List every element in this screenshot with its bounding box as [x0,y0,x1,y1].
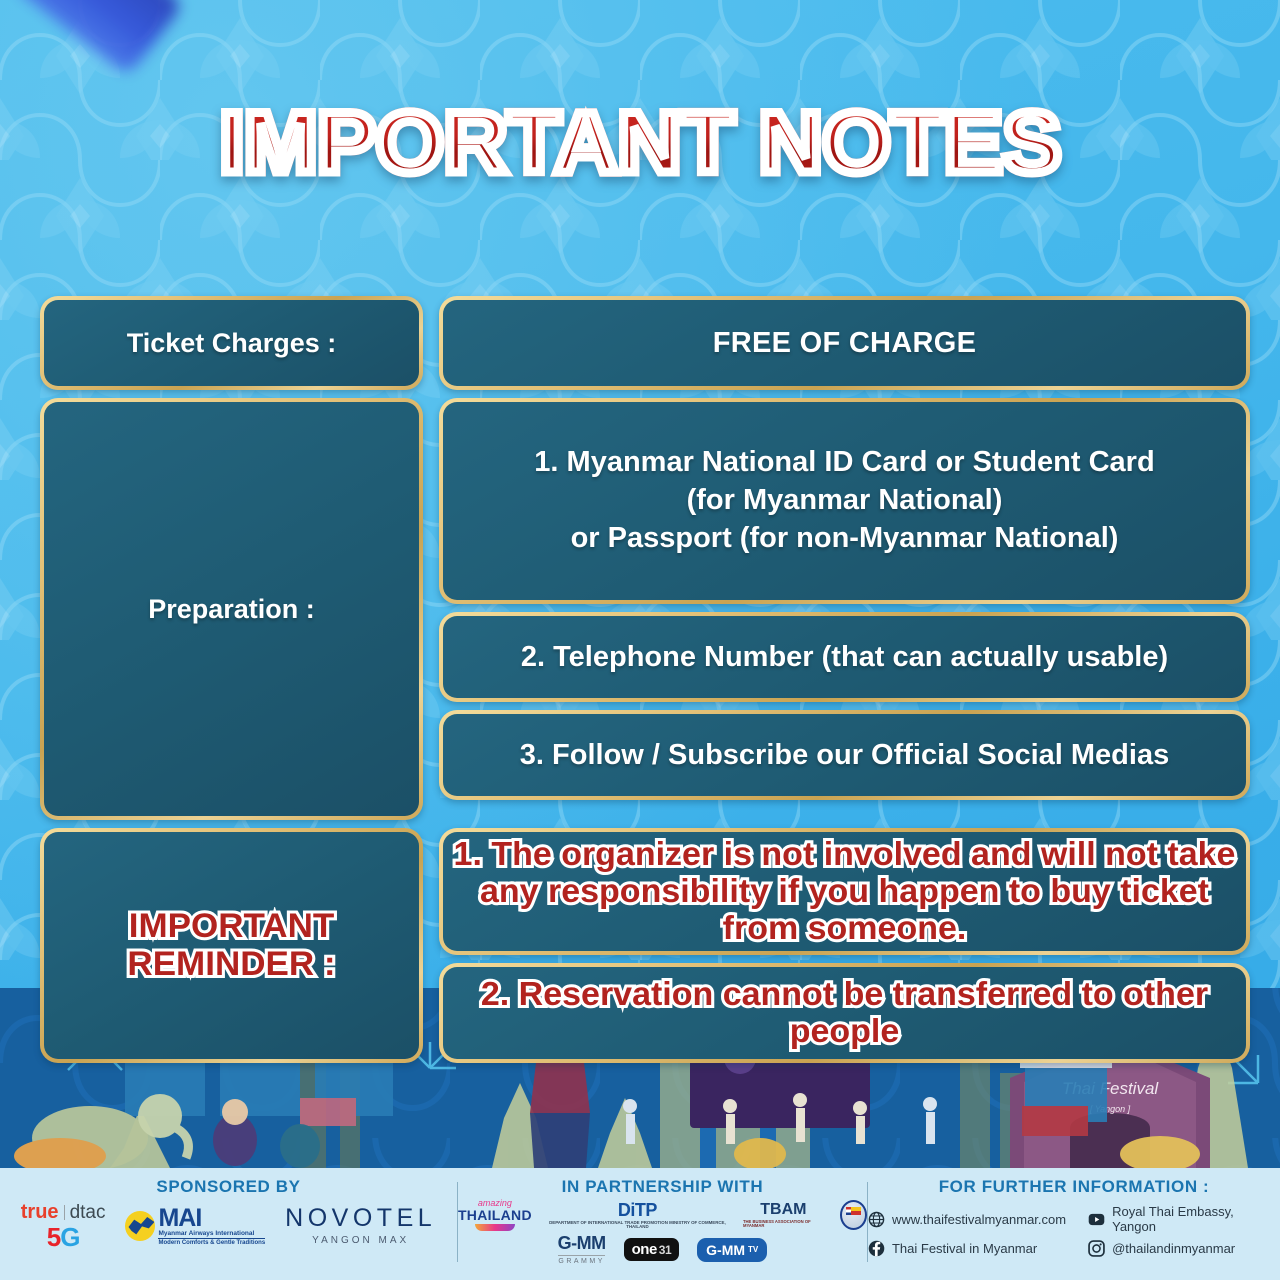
gmm-wordmark: G-MM [558,1234,606,1252]
globe-icon [868,1211,885,1228]
partnership-section: IN PARTNERSHIP WITH amazing THAILAND DiT… [458,1168,867,1280]
instagram-icon [1088,1240,1105,1257]
ditp-subtitle: DEPARTMENT OF INTERNATIONAL TRADE PROMOT… [548,1221,727,1230]
table-row: Preparation : 1. Myanmar National ID Car… [40,398,1250,820]
website-text: www.thaifestivalmyanmar.com [892,1212,1066,1227]
mai-bird-icon [125,1211,155,1241]
g-glyph: G [60,1222,79,1252]
thailand-word: THAILAND [458,1208,532,1222]
information-section: FOR FURTHER INFORMATION : www.thaifestiv… [868,1168,1280,1280]
logo-divider [64,1205,65,1220]
gmm-tv-logo: G-MM TV [697,1238,767,1262]
contact-facebook[interactable]: Thai Festival in Myanmar [868,1240,1066,1257]
ticket-charges-value-cell: FREE OF CHARGE [439,296,1250,390]
ticket-charges-value: FREE OF CHARGE [699,321,991,366]
31-number: 31 [659,1243,671,1257]
ditp-logo: DiTP DEPARTMENT OF INTERNATIONAL TRADE P… [548,1201,727,1230]
preparation-item-2: 2. Telephone Number (that can actually u… [507,635,1182,680]
partnership-heading: IN PARTNERSHIP WITH [562,1177,764,1197]
sponsored-section: SPONSORED BY true dtac 5G MAI [0,1168,457,1280]
poster-root: IMPORTANT NOTES [0,0,1280,1280]
mai-logo: MAI Myanmar Airways International Modern… [125,1206,265,1247]
true-dtac-5g-logo: true dtac 5G [21,1202,106,1250]
facebook-text: Thai Festival in Myanmar [892,1241,1037,1256]
gmm-grammy-logo: G-MM GRAMMY [558,1234,606,1265]
preparation-label: Preparation : [134,588,329,631]
notes-table: Ticket Charges : FREE OF CHARGE Preparat… [40,296,1250,1063]
important-reminder-label: IMPORTANT REMINDER : [44,903,419,987]
preparation-items: 1. Myanmar National ID Card or Student C… [439,398,1250,820]
tv-label: TV [748,1246,758,1253]
youtube-icon [1088,1211,1105,1228]
preparation-item-2-cell: 2. Telephone Number (that can actually u… [439,612,1250,702]
page-title: IMPORTANT NOTES [219,100,1060,186]
mai-subtitle-2: Modern Comforts & Gentle Traditions [158,1240,265,1246]
thai-myanmar-emblem-icon [840,1200,867,1230]
mai-subtitle-1: Myanmar Airways International [158,1231,265,1240]
novotel-wordmark: NOVOTEL [285,1206,436,1231]
one-word: one [632,1241,657,1258]
one31-logo: one 31 [624,1238,680,1261]
information-heading: FOR FURTHER INFORMATION : [939,1177,1210,1197]
footer-bar: SPONSORED BY true dtac 5G MAI [0,1168,1280,1280]
important-reminder-item-2-cell: 2. Reservation cannot be transferred to … [439,963,1250,1063]
ticket-charges-label-cell: Ticket Charges : [40,296,423,390]
table-row: IMPORTANT REMINDER : 1. The organizer is… [40,828,1250,1063]
table-row: Ticket Charges : FREE OF CHARGE [40,296,1250,390]
amazing-thailand-logo: amazing THAILAND [458,1199,532,1231]
swoosh-icon [475,1224,515,1231]
preparation-item-1: 1. Myanmar National ID Card or Student C… [520,438,1168,563]
youtube-text: Royal Thai Embassy, Yangon [1112,1204,1280,1234]
five-glyph: 5 [47,1222,60,1252]
important-reminder-items: 1. The organizer is not involved and wil… [439,828,1250,1063]
novotel-logo: NOVOTEL YANGON MAX [285,1206,436,1246]
tbam-subtitle: THE BUSINESS ASSOCIATION OF MYANMAR [743,1220,824,1228]
ditp-wordmark: DiTP [618,1201,657,1219]
preparation-item-3: 3. Follow / Subscribe our Official Socia… [506,733,1183,778]
true-wordmark: true [21,1202,59,1222]
novotel-subtitle: YANGON MAX [312,1236,409,1246]
contact-website[interactable]: www.thaifestivalmyanmar.com [868,1204,1066,1234]
preparation-item-1-cell: 1. Myanmar National ID Card or Student C… [439,398,1250,604]
sponsor-logos: true dtac 5G MAI Myanmar Airways Interna… [21,1202,436,1250]
dtac-wordmark: dtac [70,1203,106,1222]
grammy-subtitle: GRAMMY [558,1255,605,1265]
partner-logos-row-1: amazing THAILAND DiTP DEPARTMENT OF INTE… [458,1199,867,1231]
important-reminder-label-cell: IMPORTANT REMINDER : [40,828,423,1063]
important-reminder-item-1: 1. The organizer is not involved and wil… [443,832,1246,951]
facebook-icon [868,1240,885,1257]
contact-list: www.thaifestivalmyanmar.com Royal Thai E… [868,1204,1280,1257]
mai-wordmark: MAI [158,1206,265,1231]
page-title-wrapper: IMPORTANT NOTES [0,100,1280,186]
instagram-text: @thailandinmyanmar [1112,1241,1235,1256]
decorative-ribbon [10,0,185,76]
sponsored-heading: SPONSORED BY [156,1177,300,1197]
partner-logos-row-2: G-MM GRAMMY one 31 G-MM TV [558,1234,768,1265]
preparation-item-3-cell: 3. Follow / Subscribe our Official Socia… [439,710,1250,800]
ticket-charges-label: Ticket Charges : [113,322,351,365]
tbam-logo: TBAM THE BUSINESS ASSOCIATION OF MYANMAR [743,1202,824,1228]
preparation-label-cell: Preparation : [40,398,423,820]
tbam-wordmark: TBAM [760,1202,806,1218]
contact-instagram[interactable]: @thailandinmyanmar [1088,1240,1280,1257]
gmmtv-wordmark: G-MM [706,1243,745,1257]
important-reminder-item-2: 2. Reservation cannot be transferred to … [443,972,1246,1054]
important-reminder-item-1-cell: 1. The organizer is not involved and wil… [439,828,1250,955]
contact-youtube[interactable]: Royal Thai Embassy, Yangon [1088,1204,1280,1234]
